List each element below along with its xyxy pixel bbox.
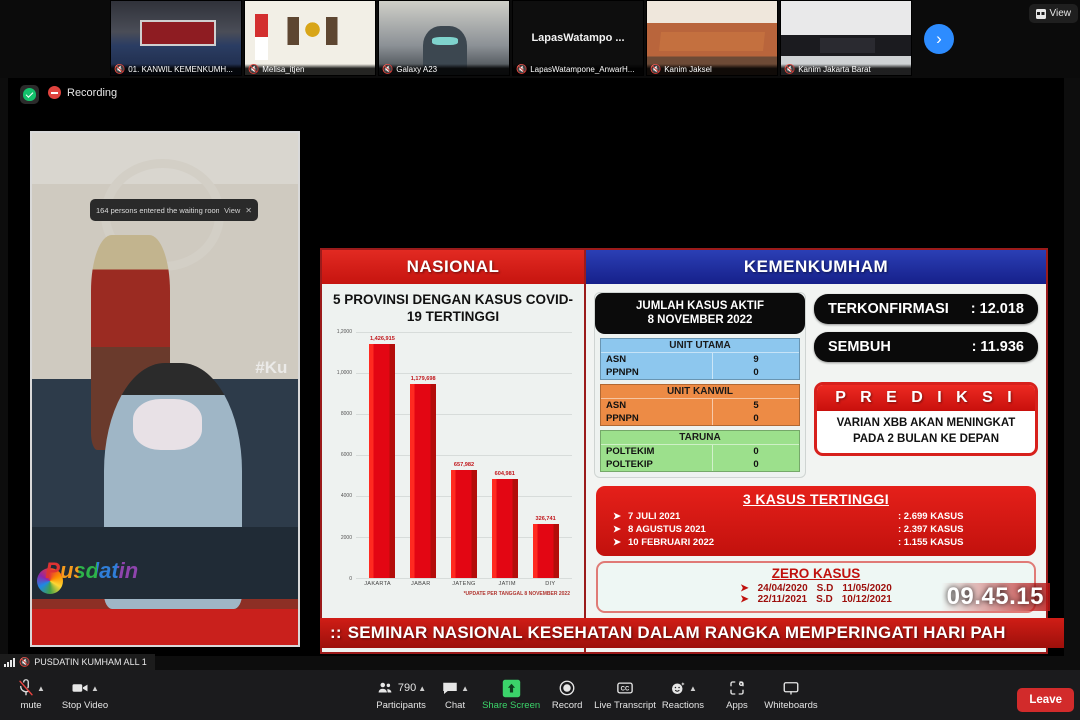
group-title: UNIT KANWIL bbox=[601, 385, 799, 399]
chart-bar-group: 657,982 bbox=[447, 332, 482, 578]
chevron-up-icon[interactable]: ▲ bbox=[689, 684, 697, 693]
chart-x-tick-label: JAKARTA bbox=[359, 581, 396, 587]
filmstrip-thumbnail[interactable]: 🔇Kanim Jakarta Barat bbox=[780, 0, 912, 76]
participant-name: Kanim Jakarta Barat bbox=[798, 65, 870, 74]
zero-end-date: 10/12/2021 bbox=[842, 594, 892, 605]
toolbar-share-screen-button[interactable]: Share Screen bbox=[482, 679, 540, 711]
top-case-count: : 1.155 KASUS bbox=[898, 537, 1026, 548]
top-case-date: 7 JULI 2021 bbox=[628, 511, 898, 522]
prediksi-card: P R E D I K S I VARIAN XBB AKAN MENINGKA… bbox=[814, 382, 1038, 456]
chart-bar-group: 326,741 bbox=[528, 332, 563, 578]
chart-x-axis: JAKARTAJABARJATENGJATIMDIY bbox=[356, 578, 572, 587]
participants-count: 790 bbox=[398, 682, 416, 694]
slide-left-column: NASIONAL 5 PROVINSI DENGAN KASUS COVID-1… bbox=[322, 250, 586, 652]
toolbar-item-label: Whiteboards bbox=[764, 700, 817, 711]
top-case-row: ➤10 FEBRUARI 2022: 1.155 KASUS bbox=[606, 536, 1026, 549]
mic-muted-icon: 🔇 bbox=[784, 65, 795, 74]
thumbnail-name-bar: 🔇Galaxy A23 bbox=[379, 64, 509, 75]
toolbar-chat-button[interactable]: ▲Chat bbox=[428, 679, 482, 711]
active-cases-title: JUMLAH KASUS AKTIF 8 NOVEMBER 2022 bbox=[595, 293, 805, 334]
broadcast-clock: 09.45.15 bbox=[941, 583, 1050, 611]
chart-y-tick-label: 4000 bbox=[341, 493, 352, 499]
bullet-arrow-icon: ➤ bbox=[606, 524, 628, 535]
chart-bar-value: 604,981 bbox=[495, 471, 515, 477]
active-cases-group: UNIT UTAMAASN9PPNPN0 bbox=[600, 338, 800, 380]
group-row-label: ASN bbox=[601, 399, 713, 412]
mic-muted-icon: ▲ bbox=[17, 679, 45, 697]
toolbar-live-transcript-button[interactable]: CCLive Transcript bbox=[594, 679, 656, 711]
chart-bars: 1,426,9151,179,698657,982604,981326,741 bbox=[362, 332, 566, 578]
participant-name: Kanim Jaksel bbox=[664, 65, 712, 74]
prediksi-body: VARIAN XBB AKAN MENINGKAT PADA 2 BULAN K… bbox=[817, 411, 1035, 453]
toolbar-item-label: mute bbox=[20, 700, 41, 711]
thumbnail-name-bar: 🔇Melisa_itjen bbox=[245, 64, 375, 75]
participant-name: 01. KANWIL KEMENKUMH... bbox=[128, 65, 233, 74]
meeting-toolbar: ▲mute▲Stop Video 790▲Participants▲ChatSh… bbox=[0, 670, 1080, 720]
lower-third-bar bbox=[32, 609, 298, 645]
chevron-up-icon[interactable]: ▲ bbox=[418, 684, 426, 693]
chart-bar bbox=[369, 344, 395, 578]
filmstrip-thumbnail[interactable]: 🔇01. KANWIL KEMENKUMH... bbox=[110, 0, 242, 76]
filmstrip-thumbnail[interactable]: 🔇Galaxy A23 bbox=[378, 0, 510, 76]
shield-check-icon[interactable] bbox=[20, 85, 39, 104]
face-mask bbox=[133, 399, 202, 450]
zero-separator: S.D bbox=[816, 594, 833, 605]
chart-x-tick-label: JATENG bbox=[446, 581, 483, 587]
stat-value: : 12.018 bbox=[971, 301, 1024, 317]
pusdatin-logo-text: Pusdatin bbox=[45, 558, 138, 584]
top-case-row: ➤8 AGUSTUS 2021: 2.397 KASUS bbox=[606, 523, 1026, 536]
chart-plot-area: 1,20001,000080006000400020000 1,426,9151… bbox=[356, 332, 572, 578]
chart-y-tick-label: 6000 bbox=[341, 452, 352, 458]
group-row-label: POLTEKIP bbox=[601, 458, 713, 471]
mic-muted-icon: 🔇 bbox=[114, 65, 125, 74]
thumbnail-name-bar: 🔇Kanim Jakarta Barat bbox=[781, 64, 911, 75]
toolbar-item-label: Record bbox=[552, 700, 583, 711]
top-case-date: 8 AGUSTUS 2021 bbox=[628, 524, 898, 535]
participant-name: Melisa_itjen bbox=[262, 65, 304, 74]
stat-pill: TERKONFIRMASI: 12.018 bbox=[814, 294, 1038, 324]
covid-bar-chart: 5 PROVINSI DENGAN KASUS COVID-19 TERTING… bbox=[322, 284, 584, 652]
top-case-row: ➤7 JULI 2021: 2.699 KASUS bbox=[606, 510, 1026, 523]
top-cases-title: 3 KASUS TERTINGGI bbox=[606, 491, 1026, 507]
participants-icon: 790▲ bbox=[376, 679, 426, 697]
group-row-value: 0 bbox=[713, 412, 799, 425]
meeting-name-text: PUSDATIN KUMHAM ALL 1 bbox=[34, 657, 147, 667]
grid-view-icon bbox=[1036, 9, 1046, 19]
group-title: TARUNA bbox=[601, 431, 799, 445]
bullet-arrow-icon: ➤ bbox=[606, 537, 628, 548]
chat-bubble-icon: ▲ bbox=[441, 679, 469, 697]
recording-indicator[interactable]: Recording bbox=[48, 86, 117, 99]
chart-x-tick-label: JABAR bbox=[402, 581, 439, 587]
chart-bar bbox=[492, 479, 518, 578]
active-cases-group: TARUNAPOLTEKIM0POLTEKIP0 bbox=[600, 430, 800, 472]
zero-start-date: 22/11/2021 bbox=[758, 594, 808, 605]
stat-pill: SEMBUH: 11.936 bbox=[814, 332, 1038, 362]
video-camera-icon: ▲ bbox=[71, 679, 99, 697]
toolbar-item-label: Share Screen bbox=[482, 700, 540, 711]
waiting-room-toast[interactable]: 164 persons entered the waiting room Vie… bbox=[90, 199, 258, 221]
signal-bars-icon bbox=[4, 658, 15, 667]
chart-y-tick-label: 1,2000 bbox=[337, 329, 352, 335]
filmstrip-thumbnail[interactable]: 🔇Kanim Jaksel bbox=[646, 0, 778, 76]
zero-start-date: 24/04/2020 bbox=[758, 583, 808, 594]
overlay-text: #Ku bbox=[255, 358, 287, 378]
chart-y-tick-label: 0 bbox=[349, 576, 352, 582]
mic-muted-icon: 🔇 bbox=[516, 65, 527, 74]
group-row: ASN9 bbox=[601, 353, 799, 366]
mic-muted-icon: 🔇 bbox=[382, 65, 393, 74]
toolbar-stop-video-button[interactable]: ▲Stop Video bbox=[58, 679, 112, 711]
chevron-up-icon[interactable]: ▲ bbox=[37, 684, 45, 693]
group-row-label: PPNPN bbox=[601, 366, 713, 379]
chart-bar-group: 1,426,915 bbox=[365, 332, 400, 578]
view-layout-button[interactable]: View bbox=[1029, 4, 1079, 23]
bullet-arrow-icon: ➤ bbox=[740, 583, 748, 594]
meeting-stage: Recording #Ku Pusdatin 164 persons enter… bbox=[8, 78, 1064, 656]
prediksi-title: P R E D I K S I bbox=[817, 385, 1035, 411]
ticker-text: SEMINAR NASIONAL KESEHATAN DALAM RANGKA … bbox=[348, 623, 1006, 643]
group-row: PPNPN0 bbox=[601, 412, 799, 425]
chart-bar-value: 1,179,698 bbox=[411, 376, 436, 382]
toolbar-item-label: Live Transcript bbox=[594, 700, 656, 711]
chart-bar bbox=[410, 384, 436, 577]
meeting-name-chip: 🔇 PUSDATIN KUMHAM ALL 1 bbox=[0, 654, 155, 670]
section-header-kemenkumham: KEMENKUMHAM bbox=[586, 250, 1046, 284]
thumbnail-name-bar: 🔇01. KANWIL KEMENKUMH... bbox=[111, 64, 241, 75]
chart-bar-value: 657,982 bbox=[454, 462, 474, 468]
smiley-reaction-icon: ▲ bbox=[669, 679, 697, 697]
top-case-date: 10 FEBRUARI 2022 bbox=[628, 537, 898, 548]
chart-bar-value: 1,426,915 bbox=[370, 336, 395, 342]
chart-bar-value: 326,741 bbox=[535, 516, 555, 522]
view-label: View bbox=[1050, 8, 1072, 19]
toolbar-item-label: Apps bbox=[726, 700, 748, 711]
shared-presentation-slide: NASIONAL 5 PROVINSI DENGAN KASUS COVID-1… bbox=[320, 248, 1048, 654]
chart-bar bbox=[451, 470, 477, 578]
participant-name: Galaxy A23 bbox=[396, 65, 437, 74]
record-dot-icon bbox=[48, 86, 61, 99]
group-row: POLTEKIM0 bbox=[601, 445, 799, 458]
waiting-room-view-button[interactable]: View bbox=[224, 206, 240, 215]
svg-text:CC: CC bbox=[621, 687, 630, 693]
mic-muted-icon: 🔇 bbox=[248, 65, 259, 74]
chevron-up-icon[interactable]: ▲ bbox=[461, 684, 469, 693]
prediksi-line2: PADA 2 BULAN KE DEPAN bbox=[821, 432, 1031, 448]
toolbar-item-label: Reactions bbox=[662, 700, 704, 711]
recording-label: Recording bbox=[67, 87, 117, 99]
prediksi-line1: VARIAN XBB AKAN MENINGKAT bbox=[821, 416, 1031, 432]
chart-footnote: *UPDATE PER TANGGAL 8 NOVEMBER 2022 bbox=[330, 587, 576, 597]
record-circle-icon bbox=[558, 679, 576, 697]
toolbar-item-label: Chat bbox=[445, 700, 465, 711]
self-view-video-tile[interactable]: #Ku Pusdatin 164 persons entered the wai… bbox=[30, 131, 300, 647]
chart-gridline: 0 bbox=[356, 578, 572, 579]
active-cases-title-line2: 8 NOVEMBER 2022 bbox=[599, 313, 801, 327]
toolbar-item-label: Stop Video bbox=[62, 700, 108, 711]
thumbnail-name-bar: 🔇LapasWatampone_AnwarH... bbox=[513, 64, 643, 75]
bullet-arrow-icon: ➤ bbox=[606, 511, 628, 522]
group-row-value: 0 bbox=[713, 458, 799, 471]
bullet-arrow-icon: ➤ bbox=[740, 594, 748, 605]
participant-name: LapasWatampone_AnwarH... bbox=[530, 65, 634, 74]
chart-bar bbox=[533, 524, 559, 578]
active-cases-card: JUMLAH KASUS AKTIF 8 NOVEMBER 2022 UNIT … bbox=[594, 292, 806, 478]
whiteboard-icon bbox=[782, 679, 800, 697]
group-row-value: 0 bbox=[713, 366, 799, 379]
section-header-nasional: NASIONAL bbox=[322, 250, 584, 284]
chart-bar-group: 604,981 bbox=[487, 332, 522, 578]
filmstrip-thumbnail[interactable]: LapasWatampo ...🔇LapasWatampone_AnwarH..… bbox=[512, 0, 644, 76]
thumbnail-name-bar: 🔇Kanim Jaksel bbox=[647, 64, 777, 75]
participant-filmstrip: 🔇01. KANWIL KEMENKUMH...🔇Melisa_itjen🔇Ga… bbox=[0, 0, 1080, 78]
ticker-prefix: :: bbox=[330, 623, 342, 643]
broadcast-ticker: :: SEMINAR NASIONAL KESEHATAN DALAM RANG… bbox=[320, 618, 1064, 648]
top-case-count: : 2.397 KASUS bbox=[898, 524, 1026, 535]
group-row-label: POLTEKIM bbox=[601, 445, 713, 458]
zero-end-date: 11/05/2020 bbox=[842, 583, 892, 594]
group-row: ASN5 bbox=[601, 399, 799, 412]
top-cases-card: 3 KASUS TERTINGGI ➤7 JULI 2021: 2.699 KA… bbox=[596, 486, 1036, 556]
group-row-label: PPNPN bbox=[601, 412, 713, 425]
mic-muted-icon: 🔇 bbox=[650, 65, 661, 74]
toolbar-reactions-button[interactable]: ▲Reactions bbox=[656, 679, 710, 711]
group-row-value: 0 bbox=[713, 445, 799, 458]
mic-muted-icon: 🔇 bbox=[19, 658, 30, 667]
chart-y-tick-label: 2000 bbox=[341, 535, 352, 541]
waiting-room-message: 164 persons entered the waiting room bbox=[96, 206, 219, 215]
chart-x-tick-label: DIY bbox=[532, 581, 569, 587]
chart-bar-group: 1,179,698 bbox=[406, 332, 441, 578]
chevron-right-icon: › bbox=[936, 29, 942, 49]
share-screen-icon bbox=[502, 679, 521, 697]
group-row-value: 5 bbox=[713, 399, 799, 412]
filmstrip-left-pad bbox=[0, 0, 110, 78]
zero-separator: S.D bbox=[817, 583, 834, 594]
filmstrip-thumbnail[interactable]: 🔇Melisa_itjen bbox=[244, 0, 376, 76]
chart-y-tick-label: 1,0000 bbox=[337, 370, 352, 376]
toolbar-whiteboards-button[interactable]: Whiteboards bbox=[764, 679, 818, 711]
toolbar-apps-button[interactable]: Apps bbox=[710, 679, 764, 711]
stat-label: TERKONFIRMASI bbox=[828, 301, 949, 317]
toolbar-participants-button[interactable]: 790▲Participants bbox=[374, 679, 428, 711]
toolbar-record-button[interactable]: Record bbox=[540, 679, 594, 711]
active-cases-title-line1: JUMLAH KASUS AKTIF bbox=[599, 299, 801, 313]
toolbar-item-label: Participants bbox=[376, 700, 426, 711]
chart-y-tick-label: 8000 bbox=[341, 411, 352, 417]
apps-icon bbox=[728, 679, 746, 697]
toolbar-unmute-button[interactable]: ▲mute bbox=[4, 679, 58, 711]
closed-caption-icon: CC bbox=[616, 679, 634, 697]
leave-meeting-button[interactable]: Leave bbox=[1017, 688, 1074, 712]
active-cases-group: UNIT KANWILASN5PPNPN0 bbox=[600, 384, 800, 426]
slide-upper-row: JUMLAH KASUS AKTIF 8 NOVEMBER 2022 UNIT … bbox=[586, 284, 1046, 482]
group-row-value: 9 bbox=[713, 353, 799, 366]
group-row: POLTEKIP0 bbox=[601, 458, 799, 471]
chevron-up-icon[interactable]: ▲ bbox=[91, 684, 99, 693]
stat-value: : 11.936 bbox=[972, 339, 1024, 355]
chart-title: 5 PROVINSI DENGAN KASUS COVID-19 TERTING… bbox=[330, 292, 576, 326]
chart-x-tick-label: JATIM bbox=[489, 581, 526, 587]
zero-cases-title: ZERO KASUS bbox=[608, 566, 1024, 581]
top-case-count: : 2.699 KASUS bbox=[898, 511, 1026, 522]
close-icon[interactable]: ✕ bbox=[245, 206, 252, 215]
group-title: UNIT UTAMA bbox=[601, 339, 799, 353]
filmstrip-next-page-button[interactable]: › bbox=[924, 24, 954, 54]
stat-label: SEMBUH bbox=[828, 339, 891, 355]
group-row: PPNPN0 bbox=[601, 366, 799, 379]
stats-and-prediction: TERKONFIRMASI: 12.018SEMBUH: 11.936 P R … bbox=[814, 292, 1038, 478]
group-row-label: ASN bbox=[601, 353, 713, 366]
zoom-meeting-window: 🔇01. KANWIL KEMENKUMH...🔇Melisa_itjen🔇Ga… bbox=[0, 0, 1080, 720]
